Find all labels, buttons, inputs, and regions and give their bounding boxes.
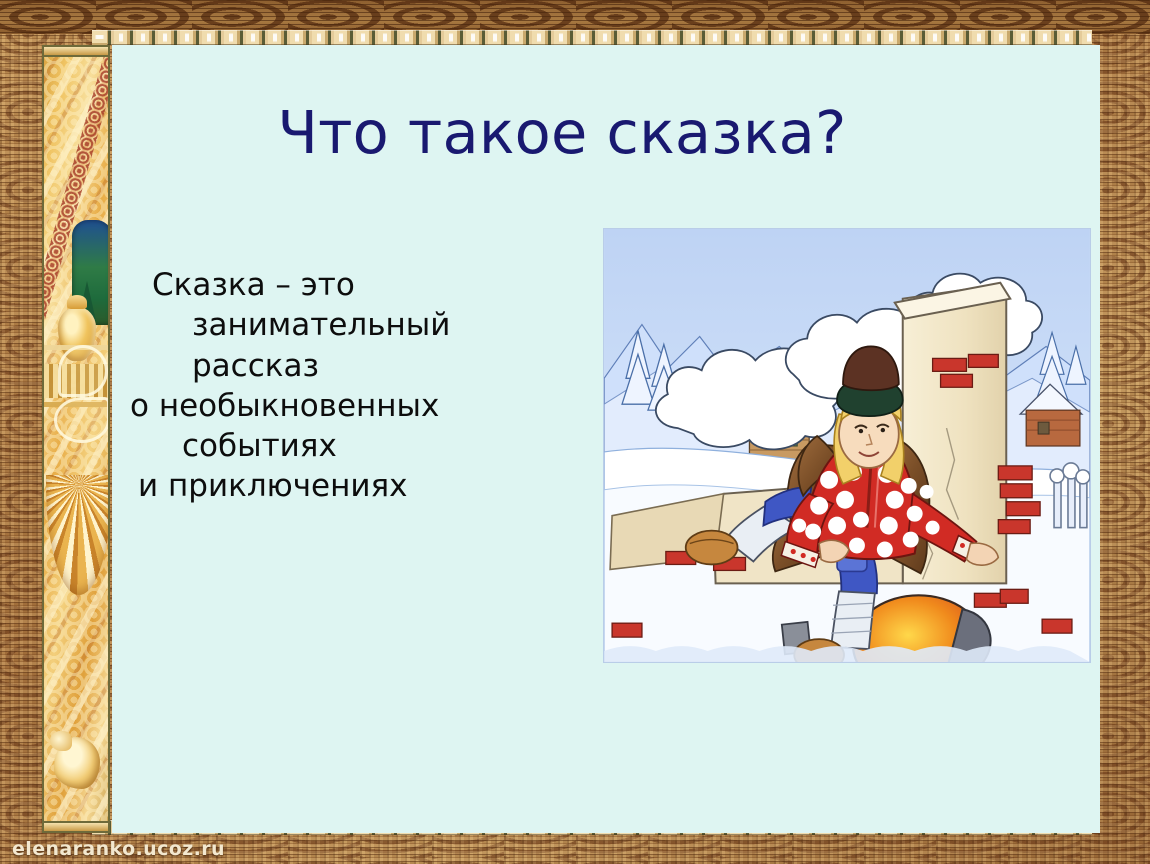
bead-dots-top: [92, 30, 1092, 45]
body-line-2: занимательный: [130, 305, 560, 345]
slide-canvas: Что такое сказка? Сказка – это занимател…: [112, 45, 1100, 833]
fairy-tale-illustration: [603, 228, 1091, 663]
watermark-text: elenaranko.ucoz.ru: [12, 838, 225, 860]
body-text-block: Сказка – это занимательный рассказ о нео…: [130, 265, 560, 507]
page-title: Что такое сказка?: [112, 98, 1012, 167]
panel-scroll-icon-a: [58, 345, 108, 397]
body-line-6: и приключениях: [130, 466, 560, 506]
body-line-5: событиях: [130, 426, 560, 466]
presentation-slide: Что такое сказка? Сказка – это занимател…: [0, 0, 1150, 864]
body-line-4: о необыкновенных: [130, 386, 560, 426]
body-line-3: рассказ: [130, 346, 560, 386]
panel-cap-top: [44, 45, 110, 57]
panel-beast-icon: [54, 737, 100, 789]
wood-top-band: [0, 0, 1150, 34]
body-line-1: Сказка – это: [130, 265, 560, 305]
bead-strip-top: [92, 30, 1092, 45]
panel-cap-bottom: [44, 821, 110, 833]
ornate-gold-panel: [42, 45, 110, 833]
panel-scroll-icon-b: [54, 397, 110, 443]
illustration-svg: [604, 229, 1090, 662]
